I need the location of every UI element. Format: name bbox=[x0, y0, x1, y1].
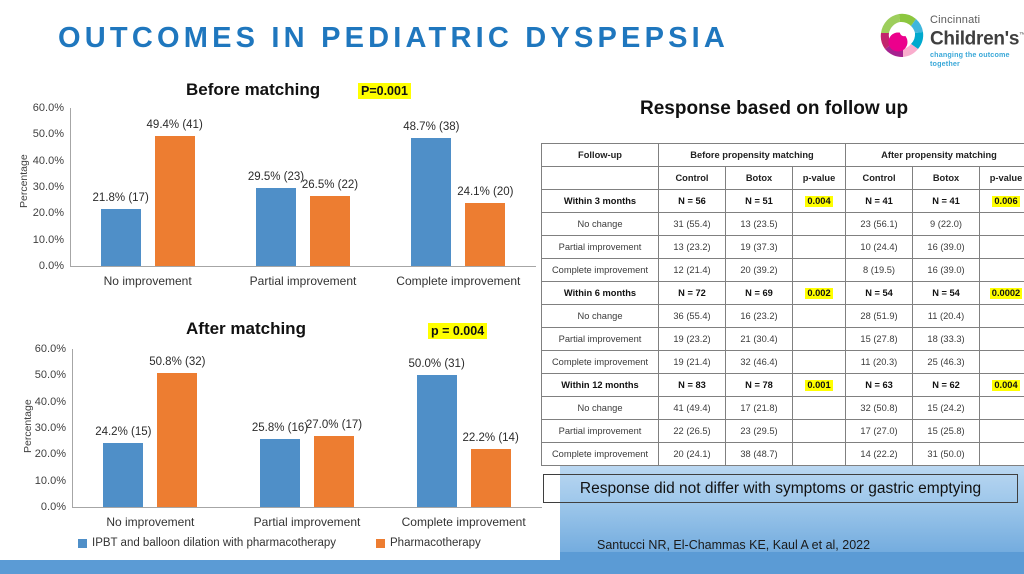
bar-series2 bbox=[310, 196, 350, 266]
table-cell: 16 (23.2) bbox=[726, 305, 793, 328]
table-cell: 0.004 bbox=[793, 190, 846, 213]
bar-data-label: 29.5% (23) bbox=[248, 171, 304, 183]
table-cell bbox=[980, 351, 1024, 374]
chart-legend: IPBT and balloon dilation with pharmacot… bbox=[78, 537, 481, 549]
table-cell bbox=[793, 305, 846, 328]
row-label-cell: Partial improvement bbox=[542, 328, 659, 351]
table-cell: 16 (39.0) bbox=[913, 236, 980, 259]
bar-series2 bbox=[155, 136, 195, 266]
table-cell: 19 (37.3) bbox=[726, 236, 793, 259]
sub-before-pvalue: p-value bbox=[793, 167, 846, 190]
citation-text: Santucci NR, El-Chammas KE, Kaul A et al… bbox=[597, 538, 870, 552]
bar-data-label: 21.8% (17) bbox=[93, 192, 149, 204]
bar-series2 bbox=[471, 449, 511, 507]
y-axis-tick-label: 40.0% bbox=[14, 155, 64, 167]
plot-area: 0.0%10.0%20.0%30.0%40.0%50.0%60.0%24.2% … bbox=[72, 349, 542, 507]
bar-series1 bbox=[256, 188, 296, 266]
table-cell: N = 69 bbox=[726, 282, 793, 305]
logo-mark-icon bbox=[876, 10, 928, 62]
chart-pvalue-badge: P=0.001 bbox=[358, 83, 411, 99]
table-cell: 16 (39.0) bbox=[913, 259, 980, 282]
bar-series2 bbox=[314, 436, 354, 507]
followup-response-table: Follow-up Before propensity matching Aft… bbox=[541, 143, 1024, 466]
table-cell bbox=[793, 213, 846, 236]
table-cell: 15 (25.8) bbox=[913, 420, 980, 443]
table-cell: 0.006 bbox=[980, 190, 1024, 213]
table-cell: N = 56 bbox=[659, 190, 726, 213]
x-axis-line bbox=[70, 266, 536, 267]
bar-data-label: 27.0% (17) bbox=[306, 419, 362, 431]
table-cell: 38 (48.7) bbox=[726, 443, 793, 466]
table-row: Partial improvement19 (23.2)21 (30.4)15 … bbox=[542, 328, 1024, 351]
table-row: Complete improvement12 (21.4)20 (39.2)8 … bbox=[542, 259, 1024, 282]
table-cell bbox=[793, 236, 846, 259]
chart-title: After matching bbox=[186, 319, 306, 339]
table-cell: N = 83 bbox=[659, 374, 726, 397]
chart-pvalue-badge: p = 0.004 bbox=[428, 323, 487, 339]
x-axis-category-label: Complete improvement bbox=[396, 274, 520, 288]
highlighted-pvalue: 0.006 bbox=[992, 196, 1019, 207]
table-head: Follow-up Before propensity matching Aft… bbox=[542, 144, 1024, 190]
x-axis-category-label: Complete improvement bbox=[402, 515, 526, 529]
table-cell bbox=[980, 328, 1024, 351]
table-cell: N = 54 bbox=[913, 282, 980, 305]
bar-series2 bbox=[157, 373, 197, 507]
sub-before-botox: Botox bbox=[726, 167, 793, 190]
table-cell: 28 (51.9) bbox=[846, 305, 913, 328]
y-axis-tick-label: 30.0% bbox=[14, 181, 64, 193]
legend-item-pharmacotherapy: Pharmacotherapy bbox=[376, 537, 481, 549]
chart-before-matching: Before matching P=0.001 Percentage 0.0%1… bbox=[0, 78, 560, 308]
highlighted-pvalue: 0.004 bbox=[805, 196, 832, 207]
table-cell: 19 (21.4) bbox=[659, 351, 726, 374]
x-axis-line bbox=[72, 507, 542, 508]
y-axis-tick-label: 30.0% bbox=[16, 422, 66, 434]
table-cell: 13 (23.5) bbox=[726, 213, 793, 236]
right-panel-heading: Response based on follow up bbox=[640, 98, 908, 120]
table-cell: N = 78 bbox=[726, 374, 793, 397]
table-row: No change31 (55.4)13 (23.5)23 (56.1)9 (2… bbox=[542, 213, 1024, 236]
cincinnati-childrens-logo: Cincinnati Children's™ changing the outc… bbox=[876, 8, 1021, 64]
y-axis-tick-label: 20.0% bbox=[14, 207, 64, 219]
sub-after-botox: Botox bbox=[913, 167, 980, 190]
table-cell: N = 63 bbox=[846, 374, 913, 397]
table-cell: 22 (26.5) bbox=[659, 420, 726, 443]
table-row: No change41 (49.4)17 (21.8)32 (50.8)15 (… bbox=[542, 397, 1024, 420]
table-cell: 31 (55.4) bbox=[659, 213, 726, 236]
legend-swatch-icon bbox=[376, 539, 385, 548]
table-cell: 0.004 bbox=[980, 374, 1024, 397]
col-followup: Follow-up bbox=[542, 144, 659, 167]
bar-series1 bbox=[103, 443, 143, 507]
row-label-cell: Complete improvement bbox=[542, 443, 659, 466]
table-group-row: Within 6 monthsN = 72N = 690.002N = 54N … bbox=[542, 282, 1024, 305]
logo-line-cincinnati: Cincinnati bbox=[930, 14, 1024, 26]
table-sub-header-row: Control Botox p-value Control Botox p-va… bbox=[542, 167, 1024, 190]
table-cell bbox=[793, 259, 846, 282]
table-cell: 20 (39.2) bbox=[726, 259, 793, 282]
bar-data-label: 50.0% (31) bbox=[409, 358, 465, 370]
table-cell bbox=[980, 305, 1024, 328]
table-cell: 17 (27.0) bbox=[846, 420, 913, 443]
table-cell: 20 (24.1) bbox=[659, 443, 726, 466]
slide-canvas: OUTCOMES IN PEDIATRIC DYSPEPSIA Cincinna… bbox=[0, 0, 1024, 574]
bar-data-label: 50.8% (32) bbox=[149, 356, 205, 368]
table-cell: 32 (50.8) bbox=[846, 397, 913, 420]
x-axis-category-label: Partial improvement bbox=[250, 274, 357, 288]
legend-label: IPBT and balloon dilation with pharmacot… bbox=[92, 537, 336, 549]
table-row: Complete improvement20 (24.1)38 (48.7)14… bbox=[542, 443, 1024, 466]
y-axis-tick-label: 10.0% bbox=[14, 234, 64, 246]
table-cell: 17 (21.8) bbox=[726, 397, 793, 420]
table-cell bbox=[980, 259, 1024, 282]
conclusion-callout: Response did not differ with symptoms or… bbox=[543, 474, 1018, 503]
row-label-cell: Within 3 months bbox=[542, 190, 659, 213]
y-axis-line bbox=[72, 349, 73, 507]
y-axis-tick-label: 20.0% bbox=[16, 448, 66, 460]
table-cell: N = 72 bbox=[659, 282, 726, 305]
row-label-cell: Within 6 months bbox=[542, 282, 659, 305]
table-cell: 10 (24.4) bbox=[846, 236, 913, 259]
table-cell: N = 41 bbox=[913, 190, 980, 213]
table-cell bbox=[793, 351, 846, 374]
table-cell: 21 (30.4) bbox=[726, 328, 793, 351]
bar-data-label: 26.5% (22) bbox=[302, 179, 358, 191]
table-cell: 0.002 bbox=[793, 282, 846, 305]
bar-data-label: 24.2% (15) bbox=[95, 426, 151, 438]
y-axis-tick-label: 60.0% bbox=[16, 343, 66, 355]
row-label-cell: Within 12 months bbox=[542, 374, 659, 397]
y-axis-tick-label: 0.0% bbox=[16, 501, 66, 513]
table-cell: N = 41 bbox=[846, 190, 913, 213]
table-row: Complete improvement19 (21.4)32 (46.4)11… bbox=[542, 351, 1024, 374]
highlighted-pvalue: 0.0002 bbox=[990, 288, 1022, 299]
row-label-cell: Complete improvement bbox=[542, 351, 659, 374]
table-cell bbox=[793, 328, 846, 351]
table-body: Within 3 monthsN = 56N = 510.004N = 41N … bbox=[542, 190, 1024, 466]
col-before-matching: Before propensity matching bbox=[659, 144, 846, 167]
trademark-symbol: ™ bbox=[1019, 32, 1024, 39]
bar-data-label: 22.2% (14) bbox=[463, 432, 519, 444]
table-cell: 31 (50.0) bbox=[913, 443, 980, 466]
logo-wordmark: Cincinnati Children's™ changing the outc… bbox=[930, 14, 1024, 68]
row-label-cell: No change bbox=[542, 213, 659, 236]
bar-data-label: 25.8% (16) bbox=[252, 422, 308, 434]
table-cell bbox=[980, 420, 1024, 443]
table-cell bbox=[793, 443, 846, 466]
row-label-cell: No change bbox=[542, 305, 659, 328]
table-cell: 8 (19.5) bbox=[846, 259, 913, 282]
logo-tagline: changing the outcome together bbox=[930, 50, 1024, 68]
sub-after-control: Control bbox=[846, 167, 913, 190]
row-label-cell: Complete improvement bbox=[542, 259, 659, 282]
table-cell: 9 (22.0) bbox=[913, 213, 980, 236]
table-cell: 12 (21.4) bbox=[659, 259, 726, 282]
table-cell: N = 62 bbox=[913, 374, 980, 397]
table-cell: 15 (24.2) bbox=[913, 397, 980, 420]
y-axis-tick-label: 10.0% bbox=[16, 475, 66, 487]
x-axis-category-label: No improvement bbox=[104, 274, 192, 288]
bar-series1 bbox=[417, 375, 457, 507]
table-cell bbox=[793, 397, 846, 420]
table-cell: 32 (46.4) bbox=[726, 351, 793, 374]
table-cell: 18 (33.3) bbox=[913, 328, 980, 351]
followup-table-wrapper: Follow-up Before propensity matching Aft… bbox=[541, 143, 1017, 466]
sub-blank bbox=[542, 167, 659, 190]
chart-after-matching: After matching p = 0.004 Percentage 0.0%… bbox=[0, 315, 560, 560]
table-cell bbox=[980, 397, 1024, 420]
x-axis-category-label: Partial improvement bbox=[254, 515, 361, 529]
table-cell: 11 (20.3) bbox=[846, 351, 913, 374]
row-label-cell: Partial improvement bbox=[542, 236, 659, 259]
plot-area: 0.0%10.0%20.0%30.0%40.0%50.0%60.0%21.8% … bbox=[70, 108, 536, 266]
table-cell: 15 (27.8) bbox=[846, 328, 913, 351]
bar-series2 bbox=[465, 203, 505, 266]
table-row: Partial improvement13 (23.2)19 (37.3)10 … bbox=[542, 236, 1024, 259]
y-axis-tick-label: 50.0% bbox=[14, 128, 64, 140]
table-cell: 13 (23.2) bbox=[659, 236, 726, 259]
table-cell: 23 (56.1) bbox=[846, 213, 913, 236]
y-axis-tick-label: 60.0% bbox=[14, 102, 64, 114]
y-axis-tick-label: 0.0% bbox=[14, 260, 64, 272]
bar-data-label: 49.4% (41) bbox=[147, 119, 203, 131]
table-cell: 0.0002 bbox=[980, 282, 1024, 305]
table-cell: 19 (23.2) bbox=[659, 328, 726, 351]
table-cell: 0.001 bbox=[793, 374, 846, 397]
row-label-cell: Partial improvement bbox=[542, 420, 659, 443]
table-cell: N = 51 bbox=[726, 190, 793, 213]
table-row: No change36 (55.4)16 (23.2)28 (51.9)11 (… bbox=[542, 305, 1024, 328]
logo-line-childrens: Children's™ bbox=[930, 26, 1024, 49]
highlighted-pvalue: 0.004 bbox=[992, 380, 1019, 391]
y-axis-line bbox=[70, 108, 71, 266]
table-cell: 25 (46.3) bbox=[913, 351, 980, 374]
y-axis-tick-label: 40.0% bbox=[16, 396, 66, 408]
y-axis-tick-label: 50.0% bbox=[16, 369, 66, 381]
table-cell: 11 (20.4) bbox=[913, 305, 980, 328]
table-cell: 36 (55.4) bbox=[659, 305, 726, 328]
table-cell: N = 54 bbox=[846, 282, 913, 305]
chart-title: Before matching bbox=[186, 80, 320, 100]
table-cell bbox=[793, 420, 846, 443]
page-title: OUTCOMES IN PEDIATRIC DYSPEPSIA bbox=[58, 22, 729, 55]
table-cell bbox=[980, 443, 1024, 466]
highlighted-pvalue: 0.001 bbox=[805, 380, 832, 391]
table-group-row: Within 3 monthsN = 56N = 510.004N = 41N … bbox=[542, 190, 1024, 213]
table-cell: 14 (22.2) bbox=[846, 443, 913, 466]
legend-swatch-icon bbox=[78, 539, 87, 548]
sub-after-pvalue: p-value bbox=[980, 167, 1024, 190]
table-cell bbox=[980, 236, 1024, 259]
highlighted-pvalue: 0.002 bbox=[805, 288, 832, 299]
bar-series1 bbox=[411, 138, 451, 266]
table-group-header-row: Follow-up Before propensity matching Aft… bbox=[542, 144, 1024, 167]
table-cell: 23 (29.5) bbox=[726, 420, 793, 443]
row-label-cell: No change bbox=[542, 397, 659, 420]
table-cell: 41 (49.4) bbox=[659, 397, 726, 420]
col-after-matching: After propensity matching bbox=[846, 144, 1024, 167]
table-row: Partial improvement22 (26.5)23 (29.5)17 … bbox=[542, 420, 1024, 443]
sub-before-control: Control bbox=[659, 167, 726, 190]
legend-item-ipbt: IPBT and balloon dilation with pharmacot… bbox=[78, 537, 336, 549]
legend-label: Pharmacotherapy bbox=[390, 537, 481, 549]
bar-series1 bbox=[260, 439, 300, 507]
x-axis-category-label: No improvement bbox=[106, 515, 194, 529]
bar-data-label: 24.1% (20) bbox=[457, 186, 513, 198]
table-cell bbox=[980, 213, 1024, 236]
bar-data-label: 48.7% (38) bbox=[403, 121, 459, 133]
table-group-row: Within 12 monthsN = 83N = 780.001N = 63N… bbox=[542, 374, 1024, 397]
bar-series1 bbox=[101, 209, 141, 266]
